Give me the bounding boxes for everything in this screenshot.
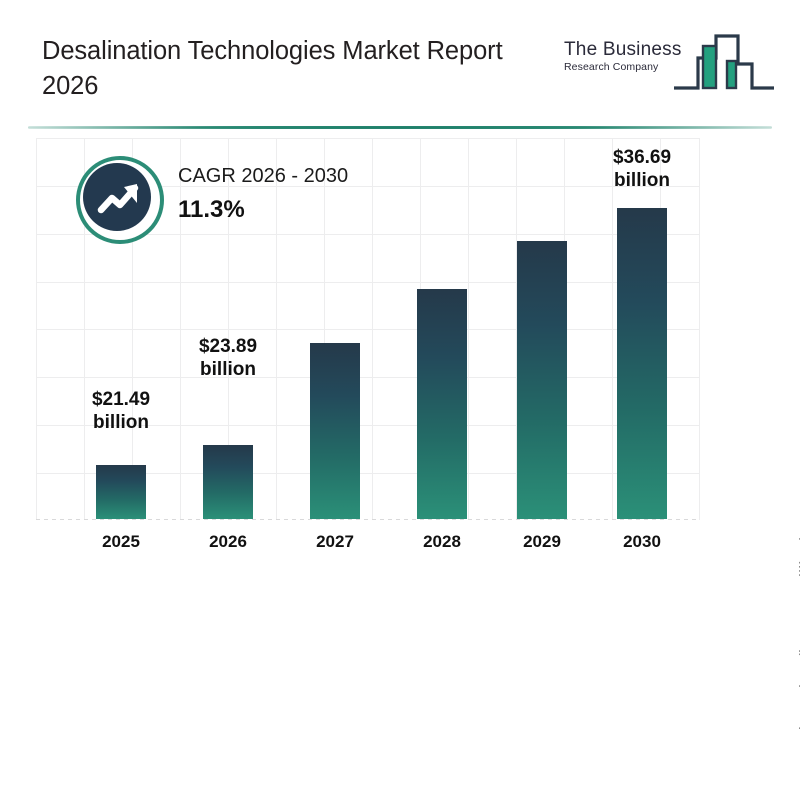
bar-value-amount: $23.89 (168, 335, 288, 358)
bar-2030 (617, 208, 667, 519)
bar-2028 (417, 289, 467, 519)
trend-up-arrow-icon (85, 165, 153, 233)
x-axis-label-2025: 2025 (81, 532, 161, 552)
bar-value-unit: billion (168, 358, 288, 381)
bar-value-label-2025: $21.49 billion (61, 388, 181, 434)
logo-wordmark: The Business Research Company (564, 40, 684, 73)
x-axis-label-2029: 2029 (502, 532, 582, 552)
cagr-value: 11.3% (178, 195, 408, 225)
report-header: Desalination Technologies Market Report … (0, 0, 800, 118)
company-logo: The Business Research Company (564, 28, 776, 98)
bar-value-unit: billion (582, 169, 702, 192)
cagr-text-block: CAGR 2026 - 2030 11.3% (178, 164, 408, 225)
cagr-badge: CAGR 2026 - 2030 11.3% (76, 156, 406, 248)
bar-2029 (517, 241, 567, 519)
bar-chart-logo-icon (672, 30, 776, 96)
bar-value-label-2026: $23.89 billion (168, 335, 288, 381)
page-title: Desalination Technologies Market Report … (42, 34, 562, 103)
bar-value-label-2030: $36.69 billion (582, 146, 702, 192)
cagr-range-label: CAGR 2026 - 2030 (178, 164, 408, 188)
bar-value-amount: $21.49 (61, 388, 181, 411)
chart-page: Desalination Technologies Market Report … (0, 0, 800, 600)
header-divider (28, 126, 772, 129)
x-axis-label-2028: 2028 (402, 532, 482, 552)
bar-2027 (310, 343, 360, 519)
x-axis-baseline (36, 519, 700, 520)
x-axis-label-2030: 2030 (602, 532, 682, 552)
bar-value-amount: $36.69 (582, 146, 702, 169)
x-axis-label-2027: 2027 (295, 532, 375, 552)
logo-line-2: Research Company (564, 62, 684, 73)
x-axis-label-2026: 2026 (188, 532, 268, 552)
bar-value-unit: billion (61, 411, 181, 434)
bar-2025 (96, 465, 146, 519)
logo-line-1: The Business (564, 40, 684, 59)
y-axis-title: Market Size (in USD Billion) (796, 508, 800, 788)
bar-2026 (203, 445, 253, 519)
